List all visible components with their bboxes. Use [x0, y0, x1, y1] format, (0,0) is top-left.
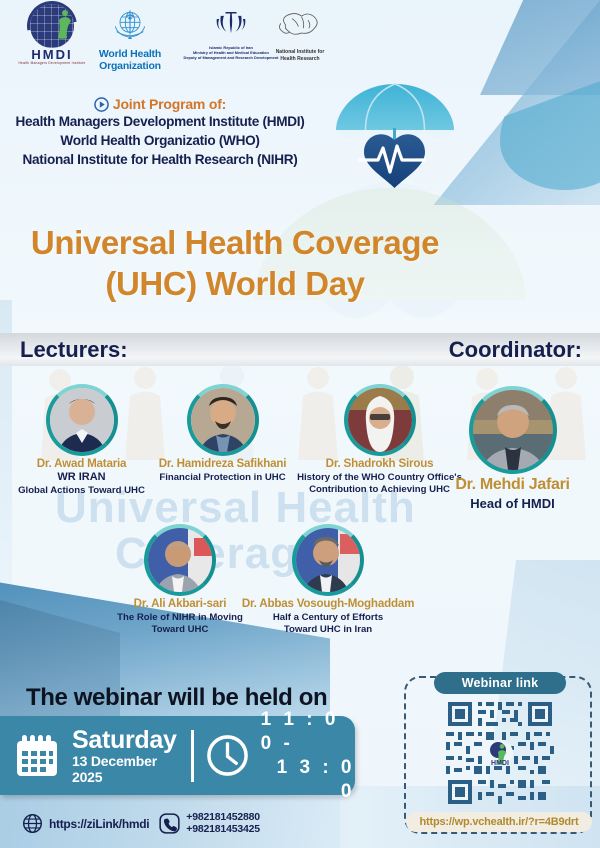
avatar-photo — [191, 388, 255, 452]
joint-program-block: Joint Program of: Health Managers Develo… — [0, 96, 320, 169]
lecturer-card-2: Dr. Hamidreza Safikhani Financial Protec… — [140, 388, 305, 484]
logo-hmdi: HMDI Health Managers Development Institu… — [16, 4, 88, 65]
globe-icon — [22, 813, 43, 834]
lecturer-card-4: Dr. Ali Akbari-sari The Role of NIHR in … — [105, 528, 255, 636]
clock-icon — [206, 734, 249, 777]
page-title: Universal Health Coverage (UHC) World Da… — [0, 222, 470, 304]
calendar-icon — [14, 733, 60, 779]
joint-program-line-2: World Health Organizatio (WHO) — [0, 131, 320, 150]
who-name-line2: Organization — [92, 61, 168, 73]
phone-icon — [159, 813, 180, 834]
nihr-line2: Health Research — [250, 56, 350, 63]
joint-program-heading-text: Joint Program of: — [113, 96, 226, 112]
lecturer-name: Dr. Abbas Vosough-Moghaddam — [238, 597, 418, 611]
avatar-photo — [148, 528, 212, 592]
svg-text:HMDI: HMDI — [491, 760, 509, 767]
contact-phone-1: +982181452880 — [186, 812, 260, 824]
contact-row: https://ziLink/hmdi +982181452880 +98218… — [22, 812, 260, 835]
coordinator-card: Dr. Mehdi Jafari Head of HMDI — [425, 390, 600, 511]
logo-nihr: National Institute for Health Research — [250, 8, 350, 62]
avatar-photo — [50, 388, 114, 452]
lecturer-card-5: Dr. Abbas Vosough-Moghaddam Half a Centu… — [238, 528, 418, 636]
schedule-time-block: 1 1 : 0 0 - 1 3 : 0 0 — [261, 708, 355, 804]
contact-phone-numbers: +982181452880 +982181453425 — [186, 812, 260, 835]
joint-program-line-3: National Institute for Health Research (… — [0, 150, 320, 169]
contact-phone[interactable]: +982181452880 +982181453425 — [159, 812, 260, 835]
avatar — [296, 528, 360, 592]
logo-who: World Health Organization — [92, 6, 168, 72]
lecturer-role: WR IRAN — [4, 471, 159, 484]
lecturer-name: Dr. Hamidreza Safikhani — [140, 457, 305, 471]
schedule-day: Saturday — [72, 727, 177, 753]
schedule-date-block: Saturday 13 December 2025 — [72, 727, 177, 785]
logo-row: HMDI Health Managers Development Institu… — [0, 0, 600, 80]
who-emblem-icon — [110, 6, 150, 44]
avatar-photo — [473, 390, 553, 470]
schedule-time-line-2: 1 3 : 0 0 — [261, 756, 355, 804]
coordinator-heading: Coordinator: — [449, 337, 582, 363]
schedule-bar: Saturday 13 December 2025 1 1 : 0 0 - 1 … — [0, 716, 355, 795]
lecturer-topic: Global Actions Toward UHC — [4, 485, 159, 497]
webinar-url[interactable]: https://wp.vchealth.ir/?r=4B9drt — [406, 812, 592, 832]
joint-program-line-1: Health Managers Development Institute (H… — [0, 112, 320, 131]
iran-emblem-icon — [215, 8, 247, 38]
hmdi-globe-icon — [30, 4, 74, 48]
who-name-line1: World Health — [92, 49, 168, 61]
avatar-photo — [348, 388, 412, 452]
avatar — [148, 528, 212, 592]
lecturer-topic: Half a Century of Efforts Toward UHC in … — [238, 612, 418, 636]
schedule-date: 13 December 2025 — [72, 753, 177, 785]
lecturers-heading: Lecturers: — [20, 337, 128, 363]
umbrella-heartbeat-icon — [330, 78, 460, 193]
avatar-photo — [296, 528, 360, 592]
contact-phone-2: +982181453425 — [186, 824, 260, 836]
lecturer-topic: Financial Protection in UHC — [140, 472, 305, 484]
avatar — [473, 390, 553, 470]
poster-root: Universal Health Coverage HMDI Health Ma… — [0, 0, 600, 848]
contact-website[interactable]: https://ziLink/hmdi — [22, 813, 149, 834]
contact-website-text: https://ziLink/hmdi — [49, 817, 149, 831]
hmdi-subtext: Health Managers Development Institute — [16, 61, 88, 65]
schedule-time-line-1: 1 1 : 0 0 - — [261, 708, 355, 756]
schedule-divider — [191, 730, 194, 782]
page-title-line-1: Universal Health Coverage — [0, 222, 470, 263]
joint-program-heading: Joint Program of: — [0, 96, 320, 112]
lecturer-topic: The Role of NIHR in Moving Toward UHC — [105, 612, 255, 636]
avatar — [191, 388, 255, 452]
lecturer-card-1: Dr. Awad Mataria WR IRAN Global Actions … — [4, 388, 159, 497]
nihr-emblem-icon — [276, 8, 324, 42]
coordinator-role: Head of HMDI — [425, 496, 600, 511]
play-circle-icon — [94, 97, 109, 112]
lecturer-name: Dr. Awad Mataria — [4, 457, 159, 471]
avatar — [50, 388, 114, 452]
avatar — [348, 388, 412, 452]
page-title-line-2: (UHC) World Day — [0, 263, 470, 304]
webinar-link-label: Webinar link — [434, 672, 566, 694]
lecturer-name: Dr. Ali Akbari-sari — [105, 597, 255, 611]
coordinator-name: Dr. Mehdi Jafari — [425, 476, 600, 494]
qr-code[interactable]: HMDI — [444, 700, 556, 806]
